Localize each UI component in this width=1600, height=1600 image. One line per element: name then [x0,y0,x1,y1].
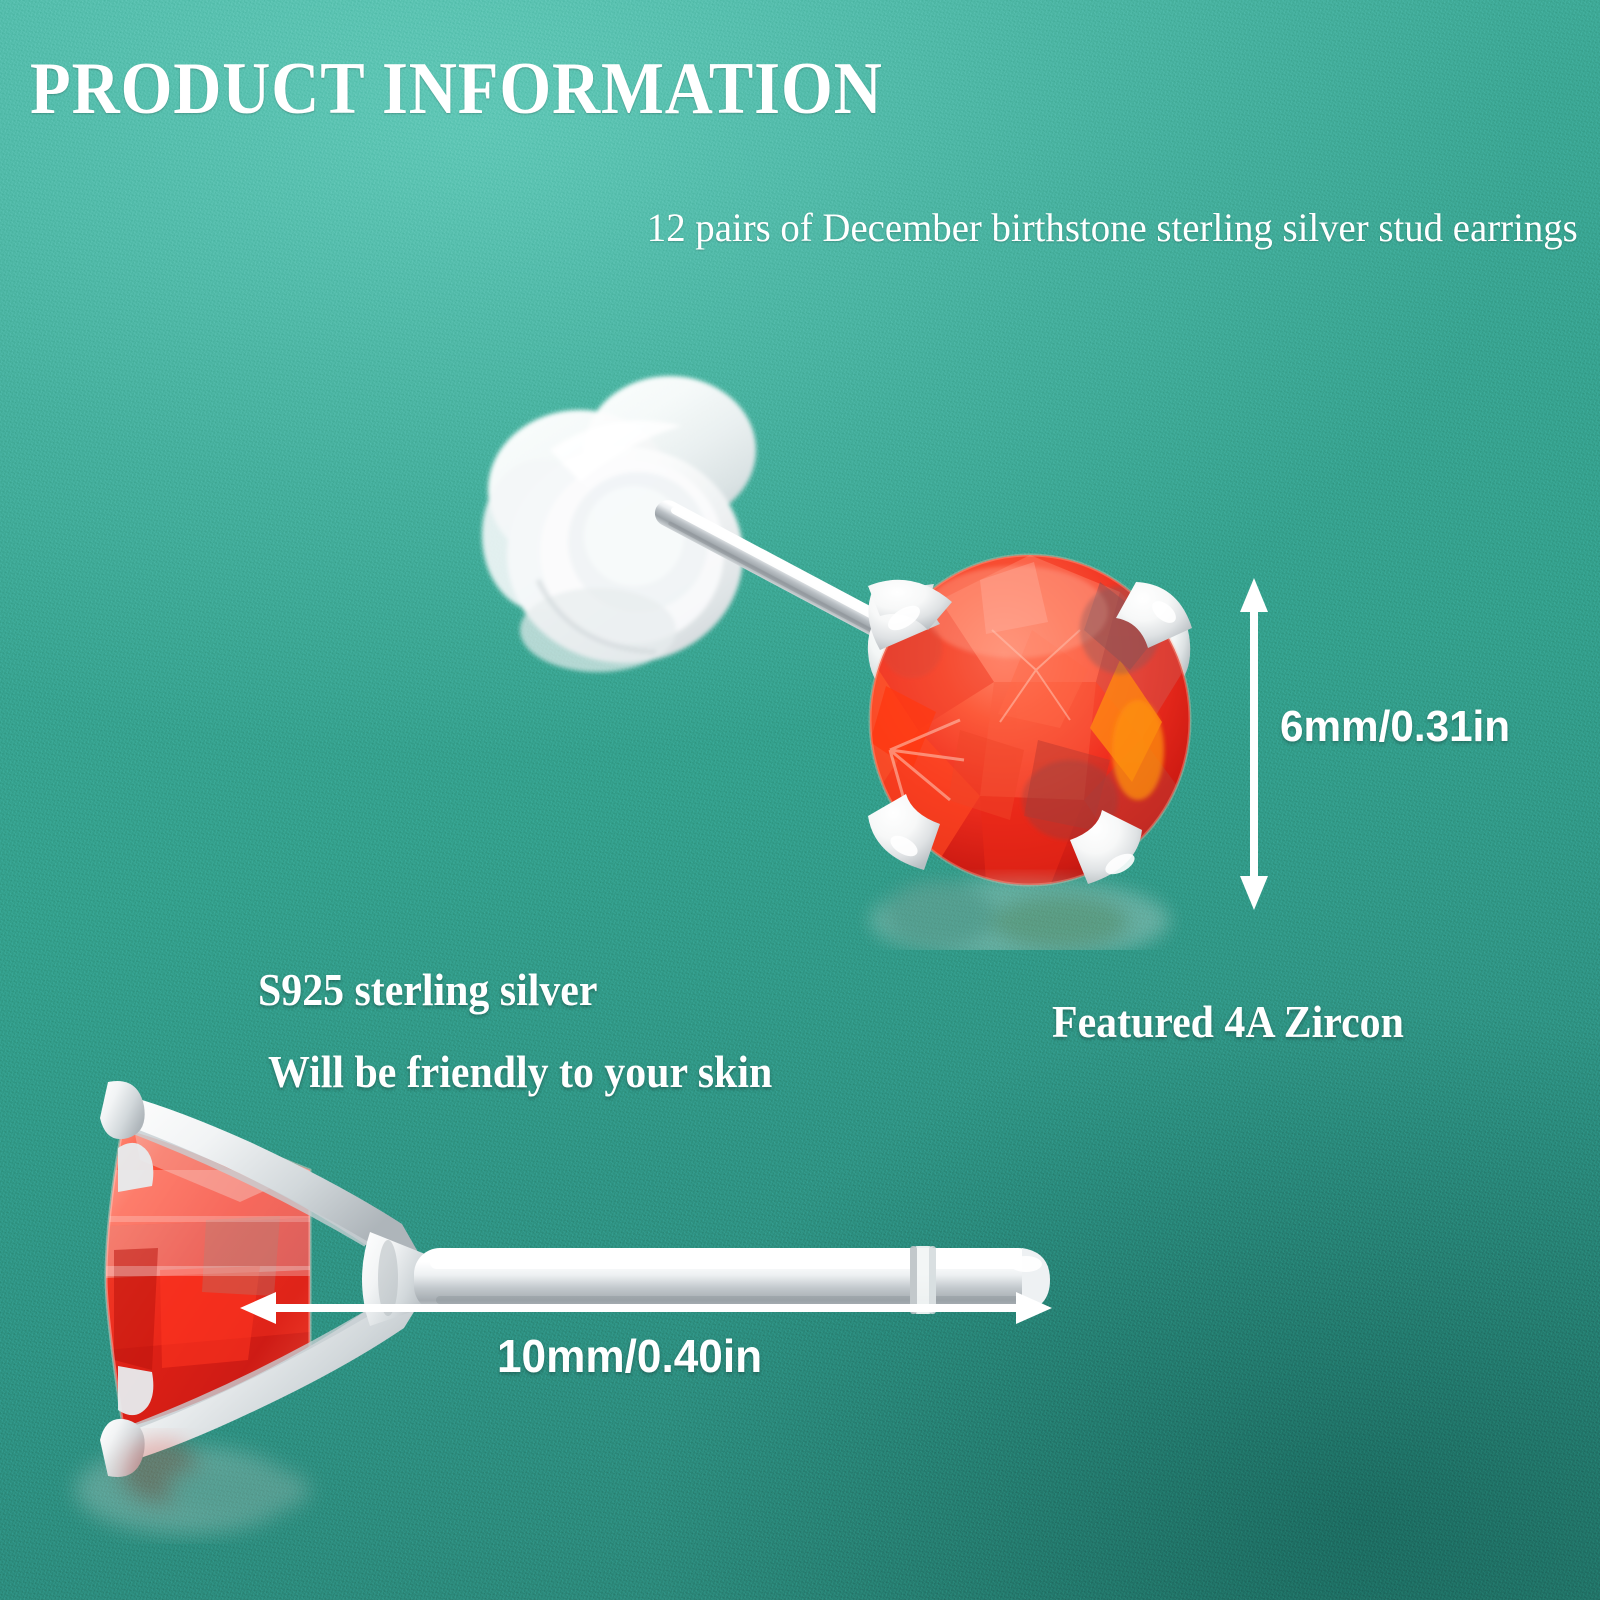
material-callout-line2: Will be friendly to your skin [268,1050,772,1095]
stone-callout: Featured 4A Zircon [1052,1000,1404,1045]
product-information-banner: PRODUCT INFORMATION 12 pairs of December… [0,0,1600,1600]
top-earring-reflection [870,878,1170,950]
material-callout-line1: S925 sterling silver [258,968,597,1013]
top-earring-image [420,330,1280,950]
double-arrow-horizontal-icon [240,1288,1052,1328]
page-title: PRODUCT INFORMATION [30,52,883,126]
double-arrow-vertical-icon [1238,578,1270,910]
page-subtitle: 12 pairs of December birthstone sterling… [647,206,1578,250]
post-length-label: 10mm/0.40in [497,1333,762,1379]
stone-height-label: 6mm/0.31in [1280,705,1510,749]
